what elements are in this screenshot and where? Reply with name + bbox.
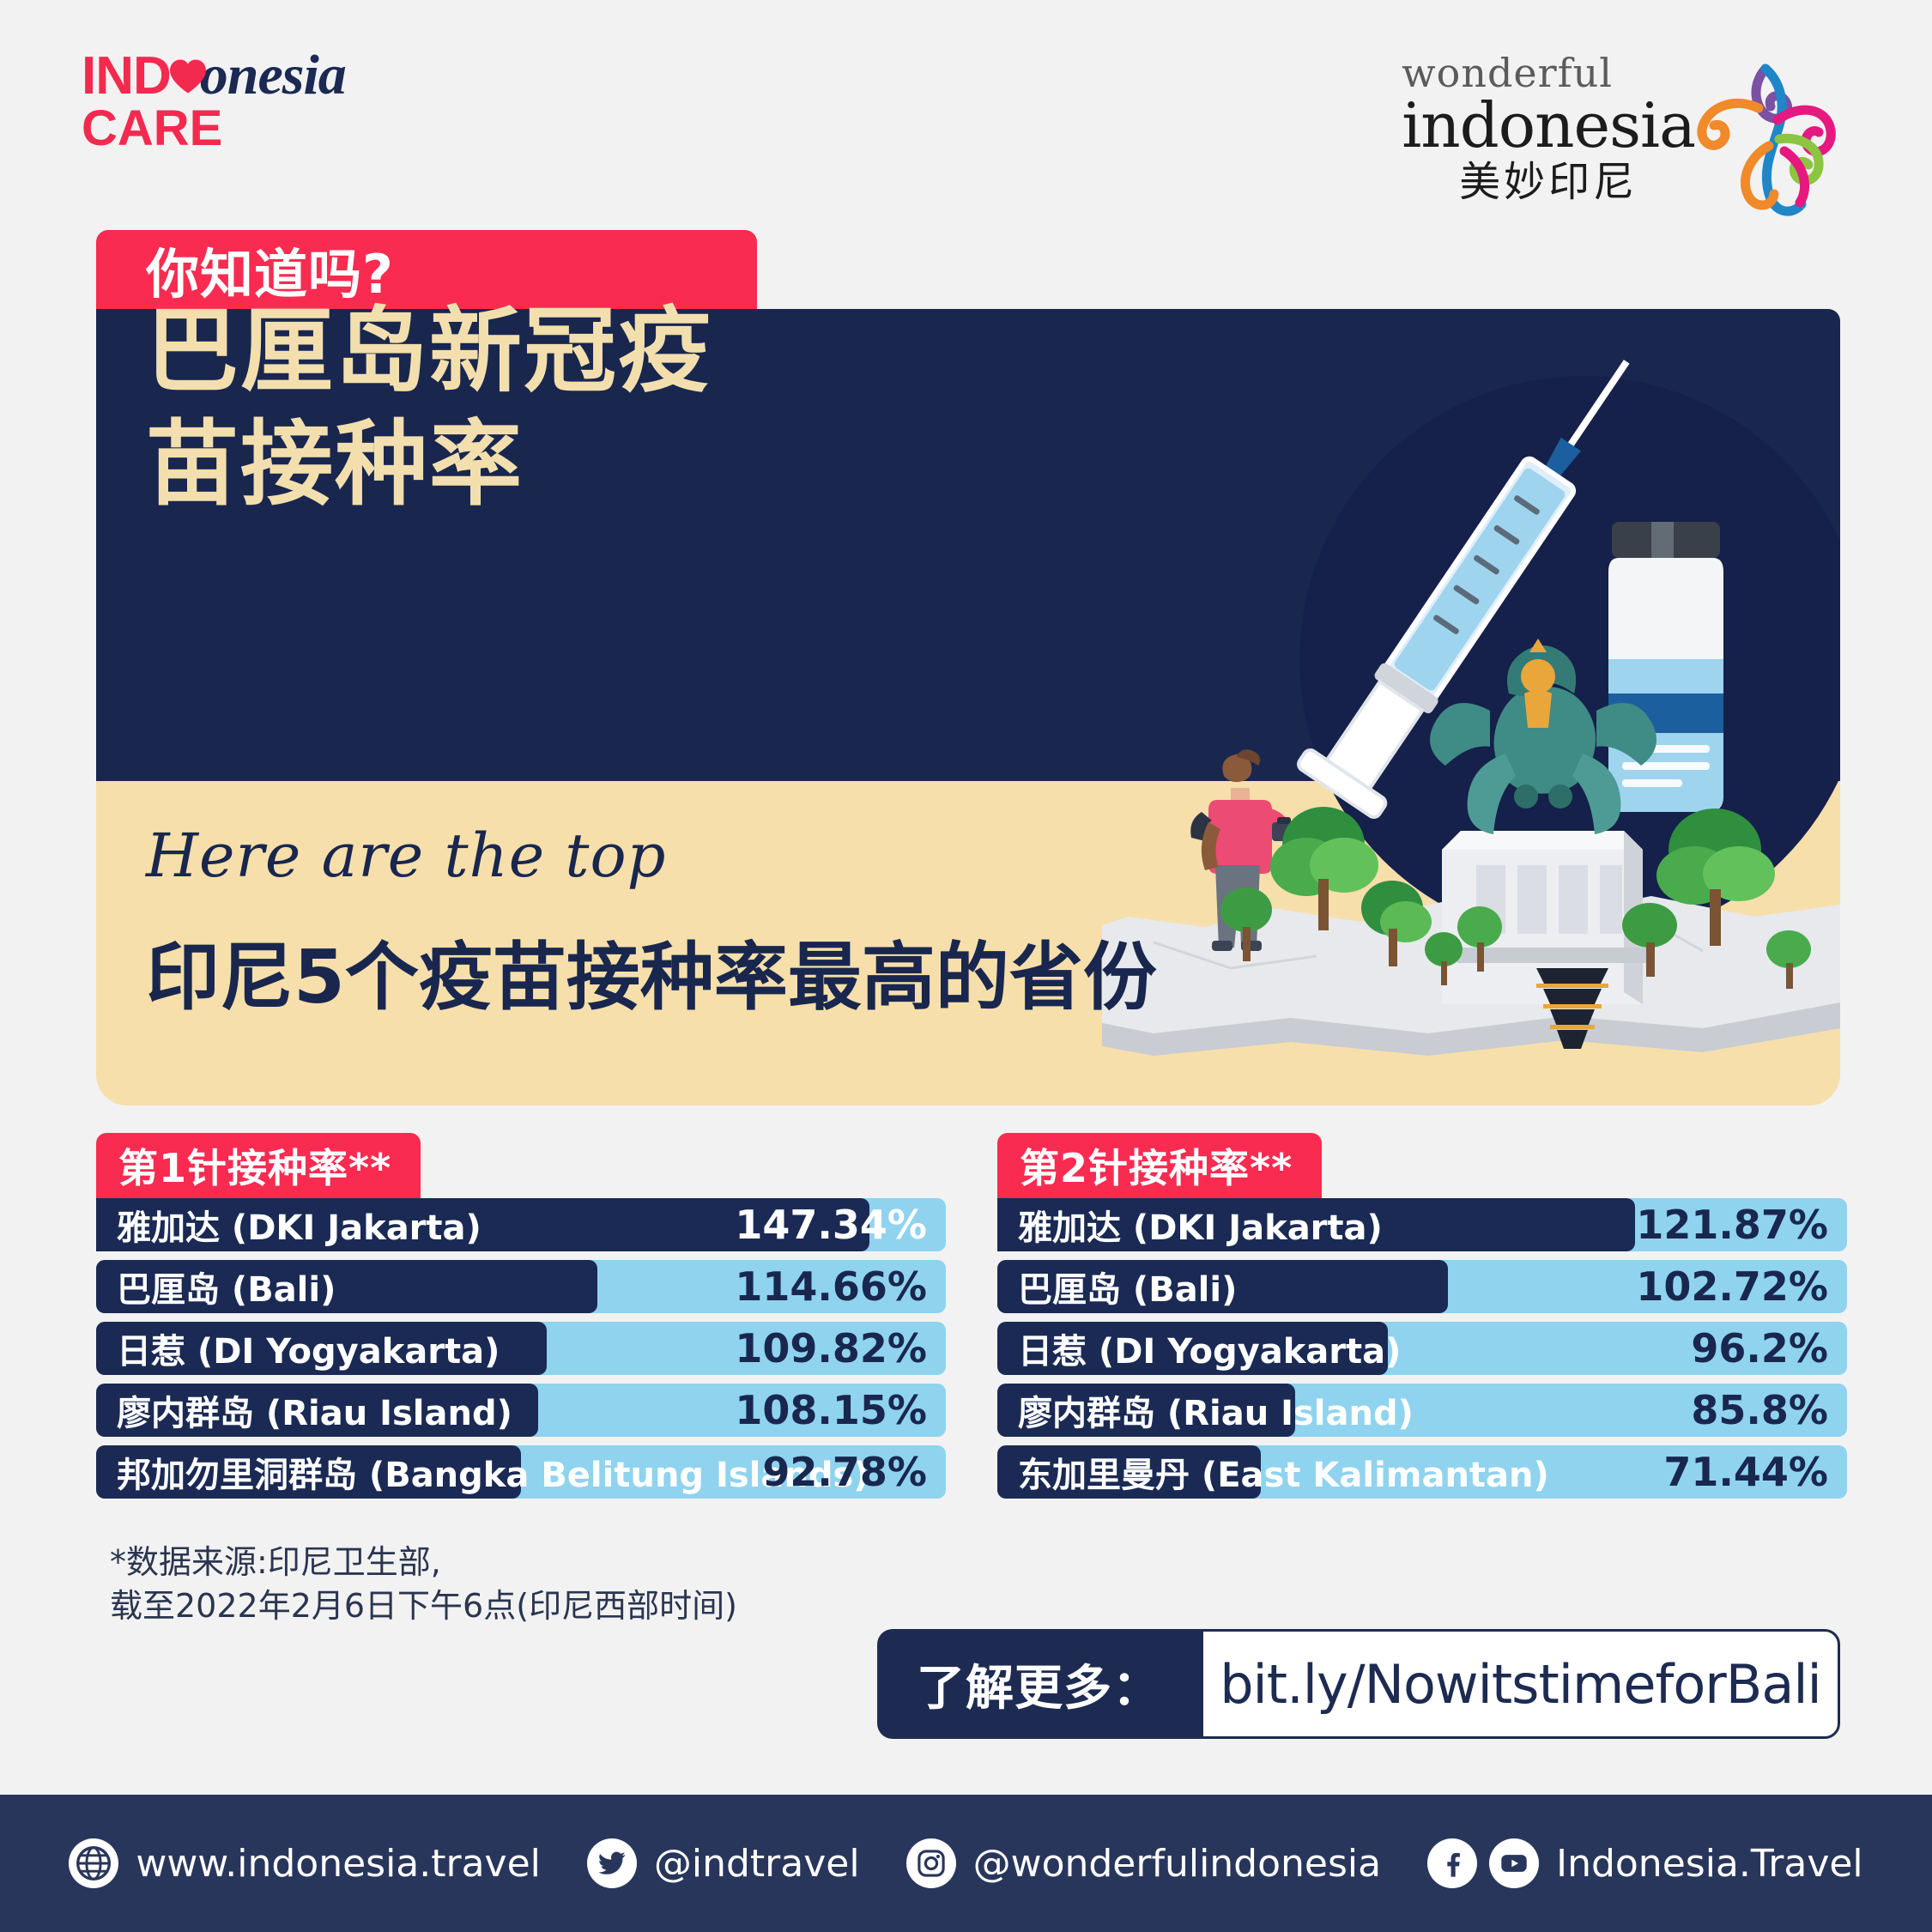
bar-category-label: 邦加勿里洞群岛 (Bangka Belitung Islands): [117, 1445, 869, 1499]
data-source-footnote: *数据来源:印尼卫生部, 载至2022年2月6日下午6点(印尼西部时间): [110, 1541, 737, 1629]
bar-category-label: 日惹 (DI Yogyakarta): [1018, 1322, 1401, 1375]
chart-dose-2-bars: 雅加达 (DKI Jakarta) 121.87% 巴厘岛 (Bali) 102…: [997, 1198, 1847, 1499]
bar-value-label: 147.34%: [735, 1198, 927, 1251]
bar-value-label: 102.72%: [1636, 1260, 1828, 1313]
infographic-page: IND onesia CARE wonderful indonesia 美妙印尼: [0, 0, 1932, 1932]
bar-value-label: 114.66%: [735, 1260, 927, 1313]
logo-text-wonderful: wonderful: [1402, 53, 1613, 93]
bar-category-label: 廖内群岛 (Riau Island): [1018, 1384, 1414, 1437]
bar-value-label: 71.44%: [1663, 1445, 1828, 1499]
footer-instagram-text[interactable]: @wonderfulindonesia: [973, 1842, 1382, 1886]
chart-dose-1-title: 第1针接种率**: [118, 1137, 391, 1194]
wonderful-indonesia-ornament-icon: [1683, 57, 1838, 220]
chart-dose-1-bars: 雅加达 (DKI Jakarta) 147.34% 巴厘岛 (Bali) 114…: [96, 1198, 946, 1499]
learn-more-label-box: 了解更多：: [877, 1629, 1201, 1739]
bar-row: 雅加达 (DKI Jakarta) 147.34%: [96, 1198, 946, 1251]
globe-icon: [69, 1838, 118, 1888]
page-title: 巴厘岛新冠疫 苗接种率: [146, 295, 712, 522]
bar-row: 东加里曼丹 (East Kalimantan) 71.44%: [997, 1445, 1847, 1499]
learn-more-cta[interactable]: 了解更多： bit.ly/NowitstimeforBali: [877, 1629, 1840, 1739]
hero-script-line: Here are the top: [146, 821, 666, 891]
youtube-icon: [1489, 1838, 1539, 1888]
chart-dose-1-header: 第1针接种率**: [96, 1133, 421, 1198]
wonderful-indonesia-logo-text: wonderful indonesia 美妙印尼: [1402, 53, 1695, 203]
wonderful-indonesia-logo: wonderful indonesia 美妙印尼: [1402, 53, 1838, 220]
learn-more-label: 了解更多：: [917, 1650, 1161, 1719]
bar-category-label: 廖内群岛 (Riau Island): [117, 1384, 512, 1437]
chart-dose-2: 第2针接种率** 雅加达 (DKI Jakarta) 121.87% 巴厘岛 (…: [997, 1133, 1847, 1499]
bar-row: 巴厘岛 (Bali) 114.66%: [96, 1260, 946, 1313]
footer-twitter-text[interactable]: @indtravel: [654, 1842, 860, 1886]
bar-row: 邦加勿里洞群岛 (Bangka Belitung Islands) 92.78%: [96, 1445, 946, 1499]
indonesia-care-logo: IND onesia CARE: [82, 50, 346, 151]
logo-text-indonesia: indonesia: [1402, 94, 1695, 156]
indonesia-care-logo-row1: IND onesia: [82, 50, 346, 102]
bar-value-label: 85.8%: [1691, 1384, 1828, 1437]
learn-more-url[interactable]: bit.ly/NowitstimeforBali: [1220, 1653, 1821, 1716]
logo-text-ind: IND: [82, 51, 171, 100]
chart-dose-2-header: 第2针接种率**: [997, 1133, 1322, 1198]
footer-youtube-text[interactable]: Indonesia.Travel: [1556, 1842, 1863, 1886]
bar-row: 日惹 (DI Yogyakarta) 109.82%: [96, 1322, 946, 1375]
bar-value-label: 92.78%: [762, 1445, 927, 1499]
bar-category-label: 雅加达 (DKI Jakarta): [1018, 1198, 1383, 1251]
bar-category-label: 东加里曼丹 (East Kalimantan): [1018, 1445, 1549, 1499]
bar-category-label: 巴厘岛 (Bali): [1018, 1260, 1237, 1313]
bar-row: 雅加达 (DKI Jakarta) 121.87%: [997, 1198, 1847, 1251]
logo-text-onesia: onesia: [200, 50, 346, 102]
footer-bar: www.indonesia.travel @indtravel @wonderf…: [0, 1795, 1932, 1932]
logo-text-indonesia-chinese: 美妙印尼: [1459, 161, 1638, 203]
bar-row: 日惹 (DI Yogyakarta) 96.2%: [997, 1322, 1847, 1375]
footer-instagram[interactable]: @wonderfulindonesia: [906, 1838, 1382, 1888]
bar-category-label: 巴厘岛 (Bali): [117, 1260, 336, 1313]
instagram-icon: [906, 1838, 956, 1888]
charts-container: 第1针接种率** 雅加达 (DKI Jakarta) 147.34% 巴厘岛 (…: [96, 1133, 1847, 1499]
bar-row: 巴厘岛 (Bali) 102.72%: [997, 1260, 1847, 1313]
hero-card: 你知道吗?: [96, 230, 1840, 1105]
bar-row: 廖内群岛 (Riau Island) 108.15%: [96, 1384, 946, 1437]
chart-dose-2-title: 第2针接种率**: [1020, 1137, 1293, 1194]
footer-website-text[interactable]: www.indonesia.travel: [136, 1842, 541, 1886]
footer-youtube[interactable]: Indonesia.Travel: [1489, 1838, 1863, 1888]
bar-category-label: 雅加达 (DKI Jakarta): [117, 1198, 481, 1251]
bar-value-label: 121.87%: [1636, 1198, 1828, 1251]
bar-value-label: 96.2%: [1691, 1322, 1828, 1375]
bar-value-label: 108.15%: [735, 1384, 927, 1437]
learn-more-url-box[interactable]: bit.ly/NowitstimeforBali: [1201, 1629, 1840, 1739]
footer-facebook[interactable]: [1427, 1838, 1477, 1888]
bar-value-label: 109.82%: [735, 1322, 927, 1375]
bar-row: 廖内群岛 (Riau Island) 85.8%: [997, 1384, 1847, 1437]
twitter-icon: [587, 1838, 637, 1888]
footer-website[interactable]: www.indonesia.travel: [69, 1838, 541, 1888]
heart-icon: [167, 56, 209, 97]
facebook-icon: [1427, 1838, 1477, 1888]
hero-subtitle: 印尼5个疫苗接种率最高的省份: [146, 917, 1157, 1024]
chart-dose-1: 第1针接种率** 雅加达 (DKI Jakarta) 147.34% 巴厘岛 (…: [96, 1133, 946, 1499]
bar-category-label: 日惹 (DI Yogyakarta): [117, 1322, 500, 1375]
logo-text-care: CARE: [82, 106, 346, 151]
footer-twitter[interactable]: @indtravel: [587, 1838, 860, 1888]
